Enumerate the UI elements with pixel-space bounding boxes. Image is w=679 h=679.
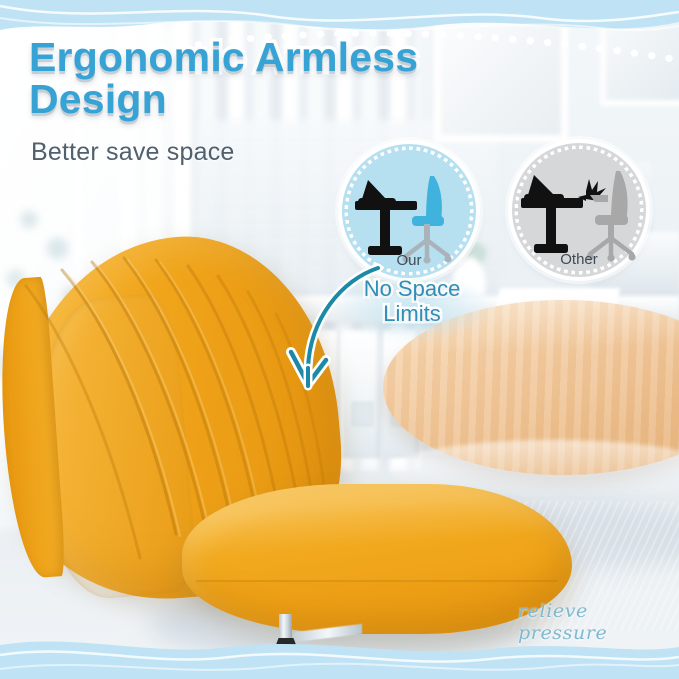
- office-chair-icon: [586, 171, 635, 262]
- desk-icon: [355, 201, 417, 255]
- armrest: [590, 195, 608, 202]
- comparison-badge-other: Other: [512, 143, 646, 277]
- office-chair-icon: [402, 176, 451, 264]
- bottom-wave-band: [0, 631, 679, 679]
- curved-down-arrow-icon: [286, 256, 396, 436]
- headline-line-1: Ergonomic Armless: [29, 36, 499, 78]
- headline-line-2: Design: [29, 78, 499, 120]
- product-banner: Ergonomic Armless Design Better save spa…: [0, 0, 679, 679]
- desk-icon: [521, 198, 583, 253]
- badge-label-other: Other: [512, 251, 646, 268]
- page-title: Ergonomic Armless Design: [29, 36, 499, 120]
- page-subtitle: Better save space: [31, 138, 235, 167]
